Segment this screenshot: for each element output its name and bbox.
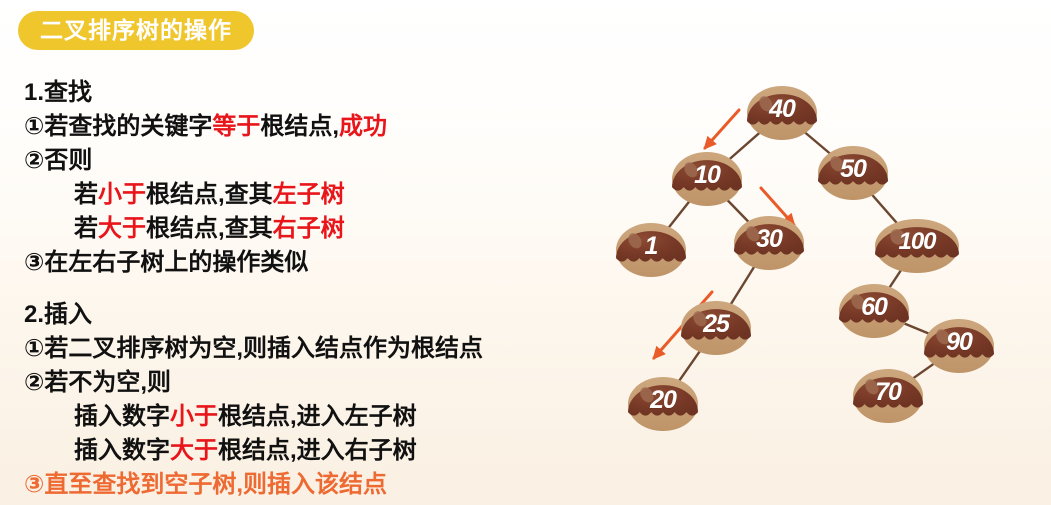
tree-node: 10 <box>671 151 743 207</box>
node-gloss-highlight <box>744 224 763 244</box>
emphasis-text: 右子树 <box>273 215 345 242</box>
node-gloss-highlight <box>638 385 657 405</box>
page-title-banner: 二叉排序树的操作 <box>18 11 254 50</box>
body-text: 2.插入 <box>24 301 92 328</box>
node-base <box>681 301 751 355</box>
explanation-line: 插入数字大于根结点,进入右子树 <box>0 434 600 468</box>
arrow-down-to-empty <box>654 292 712 358</box>
node-gloss-highlight <box>828 154 847 174</box>
chocolate-node-icon <box>746 85 818 141</box>
tree-edges <box>666 128 940 384</box>
node-base <box>672 152 742 206</box>
tree-edge <box>908 360 940 382</box>
node-gloss-highlight <box>863 377 882 397</box>
arrow-root-to-left <box>705 110 739 148</box>
chocolate-node-icon <box>852 368 924 424</box>
chocolate-node-icon <box>671 151 743 207</box>
tree-node: 40 <box>746 85 818 141</box>
tree-edge <box>724 196 753 226</box>
chocolate-node-icon <box>817 145 889 201</box>
tree-node: 20 <box>627 376 699 432</box>
node-base <box>853 369 923 423</box>
tree-node: 30 <box>733 215 805 271</box>
node-chocolate-coating <box>924 327 994 357</box>
node-base <box>818 146 888 200</box>
tree-edge <box>725 129 764 163</box>
body-text: ②否则 <box>24 147 92 174</box>
node-gloss-highlight <box>934 327 953 347</box>
chocolate-node-icon <box>733 215 805 271</box>
tree-node-value: 10 <box>671 151 743 207</box>
tree-edge <box>869 191 901 228</box>
body-text: 若 <box>74 181 98 208</box>
tree-edge <box>729 263 757 307</box>
tree-node-value: 90 <box>923 318 995 374</box>
body-text: ②若不为空,则 <box>24 369 171 396</box>
node-base <box>616 223 686 277</box>
explanation-line: 插入数字小于根结点,进入左子树 <box>0 400 600 434</box>
tree-node: 25 <box>680 300 752 356</box>
node-base <box>875 219 959 273</box>
body-text: 根结点,查其 <box>146 215 273 242</box>
explanation-line: ①若二叉排序树为空,则插入结点作为根结点 <box>0 332 600 366</box>
body-text: ①若查找的关键字 <box>24 113 212 140</box>
emphasis-text: 大于 <box>170 437 218 464</box>
node-gloss-highlight <box>691 309 710 329</box>
node-chocolate-coating <box>681 309 751 339</box>
node-chocolate-coating <box>853 377 923 407</box>
node-base <box>839 284 909 338</box>
node-chocolate-coating <box>734 224 804 254</box>
tree-edge <box>896 320 937 337</box>
body-text: 1.查找 <box>24 79 92 106</box>
tree-edge <box>666 198 692 231</box>
explanation-line: ②否则 <box>0 144 600 178</box>
node-gloss-highlight <box>887 226 908 247</box>
slide-root: 二叉排序树的操作 1.查找①若查找的关键字等于根结点,成功②否则若小于根结点,查… <box>0 0 1051 505</box>
emphasis-text: 小于 <box>98 181 146 208</box>
node-gloss-highlight <box>682 160 701 180</box>
explanation-line: ①若查找的关键字等于根结点,成功 <box>0 110 600 144</box>
node-gloss-highlight <box>849 292 868 312</box>
tree-node: 90 <box>923 318 995 374</box>
tree-edge <box>677 348 703 385</box>
emphasis-text: 左子树 <box>273 181 345 208</box>
chocolate-node-icon <box>615 222 687 278</box>
body-text: 根结点, <box>260 113 339 140</box>
tree-node-value: 1 <box>615 222 687 278</box>
tree-node-value: 60 <box>838 283 910 339</box>
explanation-line: ③直至查找到空子树,则插入该结点 <box>0 468 600 502</box>
tree-node: 1 <box>615 222 687 278</box>
tree-node-value: 25 <box>680 300 752 356</box>
tree-edge <box>887 266 904 291</box>
explanation-line: 2.插入 <box>0 298 600 332</box>
emphasis-text: 小于 <box>170 403 218 430</box>
node-base <box>734 216 804 270</box>
traversal-arrows <box>654 110 794 358</box>
node-base <box>924 319 994 373</box>
node-chocolate-coating <box>747 94 817 124</box>
explanation-line: 若小于根结点,查其左子树 <box>0 178 600 212</box>
tree-node-value: 40 <box>746 85 818 141</box>
body-text: 若 <box>74 215 98 242</box>
tree-node-value: 50 <box>817 145 889 201</box>
node-base <box>747 86 817 140</box>
tree-node-value: 100 <box>874 218 960 274</box>
explanation-text-block: 1.查找①若查找的关键字等于根结点,成功②否则若小于根结点,查其左子树若大于根结… <box>0 76 600 502</box>
node-chocolate-coating <box>628 385 698 415</box>
tree-node-value: 70 <box>852 368 924 424</box>
node-chocolate-coating <box>672 160 742 190</box>
chocolate-node-icon <box>627 376 699 432</box>
node-gloss-highlight <box>626 231 645 251</box>
chocolate-node-icon <box>923 318 995 374</box>
body-text: ①若二叉排序树为空,则插入结点作为根结点 <box>24 335 483 362</box>
body-text: 插入数字 <box>74 437 170 464</box>
explanation-line: 若大于根结点,查其右子树 <box>0 212 600 246</box>
node-chocolate-coating <box>875 227 959 258</box>
tree-node: 50 <box>817 145 889 201</box>
emphasis-text: 大于 <box>98 215 146 242</box>
tree-node-value: 20 <box>627 376 699 432</box>
tree-node: 100 <box>874 218 960 274</box>
body-text: 插入数字 <box>74 403 170 430</box>
explanation-line: 1.查找 <box>0 76 600 110</box>
tree-node: 60 <box>838 283 910 339</box>
page-title: 二叉排序树的操作 <box>40 19 232 42</box>
body-text: 根结点,进入右子树 <box>218 437 417 464</box>
emphasis-text: 成功 <box>339 113 387 140</box>
chocolate-node-icon <box>874 218 960 274</box>
body-text: ③直至查找到空子树,则插入该结点 <box>24 471 387 498</box>
chocolate-node-icon <box>838 283 910 339</box>
body-text: 根结点,进入左子树 <box>218 403 417 430</box>
node-chocolate-coating <box>839 292 909 322</box>
tree-edge <box>800 128 834 157</box>
node-base <box>628 377 698 431</box>
explanation-line: ②若不为空,则 <box>0 366 600 400</box>
tree-node-value: 30 <box>733 215 805 271</box>
body-text: ③在左右子树上的操作类似 <box>24 249 308 276</box>
node-chocolate-coating <box>818 154 888 184</box>
tree-node: 70 <box>852 368 924 424</box>
arrow-left-to-right-child <box>761 188 794 225</box>
node-chocolate-coating <box>616 231 686 261</box>
body-text: 根结点,查其 <box>146 181 273 208</box>
explanation-line: ③在左右子树上的操作类似 <box>0 246 600 280</box>
chocolate-node-icon <box>680 300 752 356</box>
emphasis-text: 等于 <box>212 113 260 140</box>
node-gloss-highlight <box>757 94 776 114</box>
